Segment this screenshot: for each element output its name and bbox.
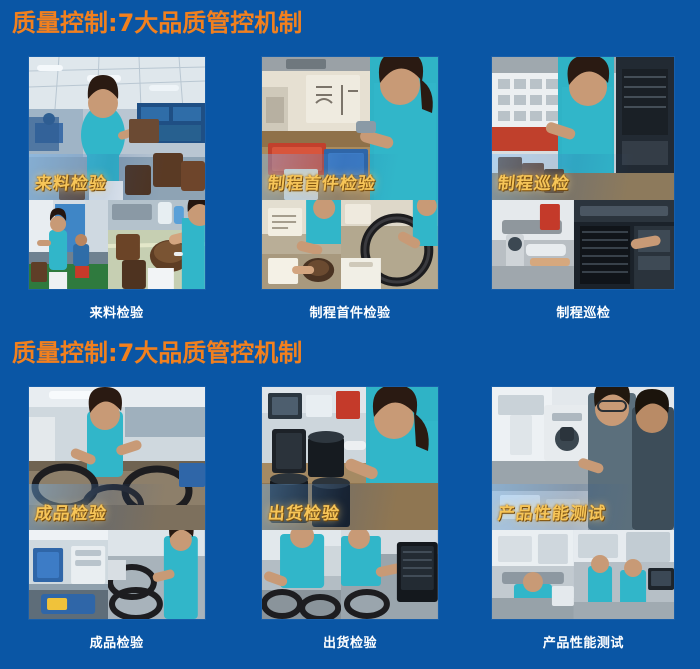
photo-sub-right bbox=[574, 200, 674, 289]
scene-photo-icon bbox=[262, 387, 438, 530]
scene-photo-icon bbox=[29, 387, 205, 530]
photo-sub-left bbox=[262, 530, 341, 619]
card-caption: 产品性能测试 bbox=[543, 632, 624, 651]
card-caption: 成品检验 bbox=[90, 632, 144, 651]
photo-card[interactable]: 产品性能测试 bbox=[492, 387, 674, 619]
card-row-2: 成品检验 bbox=[0, 387, 700, 651]
photo-sub-right bbox=[108, 200, 205, 289]
scene-photo-icon bbox=[574, 200, 674, 289]
photo-strip bbox=[262, 530, 438, 619]
photo-sub-right bbox=[341, 200, 438, 289]
photo-sub-left bbox=[29, 200, 108, 289]
card-cell-first-article-inspection: 制程首件检验 bbox=[233, 57, 466, 321]
photo-sub-right bbox=[108, 530, 205, 619]
photo-main: 制程首件检验 bbox=[262, 57, 438, 200]
scene-photo-icon bbox=[492, 387, 674, 530]
photo-strip bbox=[29, 530, 205, 619]
card-cell-incoming-inspection: 来料检验 bbox=[0, 57, 233, 321]
photo-main: 制程巡检 bbox=[492, 57, 674, 200]
photo-strip bbox=[29, 200, 205, 289]
scene-photo-icon bbox=[341, 530, 438, 619]
card-cell-outgoing-inspection: 出货检验 bbox=[233, 387, 466, 651]
photo-main: 产品性能测试 bbox=[492, 387, 674, 530]
photo-sub-right bbox=[574, 530, 674, 619]
scene-photo-icon bbox=[341, 200, 438, 289]
scene-photo-icon bbox=[29, 57, 205, 200]
photo-sub-left bbox=[262, 200, 341, 289]
card-cell-finished-goods-inspection: 成品检验 bbox=[0, 387, 233, 651]
photo-card[interactable]: 出货检验 bbox=[262, 387, 438, 619]
photo-card[interactable]: 成品检验 bbox=[29, 387, 205, 619]
card-cell-performance-test: 产品性能测试 bbox=[467, 387, 700, 651]
section-title-1: 质量控制:7大品质管控机制 bbox=[0, 11, 302, 35]
photo-card[interactable]: 制程巡检 bbox=[492, 57, 674, 289]
card-cell-process-patrol-inspection: 制程巡检 bbox=[467, 57, 700, 321]
quality-control-page: 质量控制:7大品质管控机制 bbox=[0, 0, 700, 669]
card-caption: 制程首件检验 bbox=[309, 302, 390, 321]
card-caption: 来料检验 bbox=[90, 302, 144, 321]
section-title-2: 质量控制:7大品质管控机制 bbox=[0, 341, 302, 365]
card-caption: 制程巡检 bbox=[556, 302, 610, 321]
photo-sub-right bbox=[341, 530, 438, 619]
card-caption: 出货检验 bbox=[323, 632, 377, 651]
scene-photo-icon bbox=[262, 530, 341, 619]
scene-photo-icon bbox=[108, 530, 205, 619]
scene-photo-icon bbox=[262, 200, 341, 289]
scene-photo-icon bbox=[29, 200, 108, 289]
photo-main: 成品检验 bbox=[29, 387, 205, 530]
scene-photo-icon bbox=[29, 530, 108, 619]
scene-photo-icon bbox=[492, 200, 574, 289]
scene-photo-icon bbox=[492, 530, 574, 619]
photo-sub-left bbox=[492, 530, 574, 619]
photo-sub-left bbox=[29, 530, 108, 619]
card-row-1: 来料检验 bbox=[0, 57, 700, 321]
photo-sub-left bbox=[492, 200, 574, 289]
scene-photo-icon bbox=[262, 57, 438, 200]
photo-strip bbox=[492, 200, 674, 289]
photo-card[interactable]: 来料检验 bbox=[29, 57, 205, 289]
scene-photo-icon bbox=[574, 530, 674, 619]
scene-photo-icon bbox=[492, 57, 674, 200]
photo-strip bbox=[262, 200, 438, 289]
photo-main: 出货检验 bbox=[262, 387, 438, 530]
scene-photo-icon bbox=[108, 200, 205, 289]
photo-main: 来料检验 bbox=[29, 57, 205, 200]
photo-card[interactable]: 制程首件检验 bbox=[262, 57, 438, 289]
photo-strip bbox=[492, 530, 674, 619]
